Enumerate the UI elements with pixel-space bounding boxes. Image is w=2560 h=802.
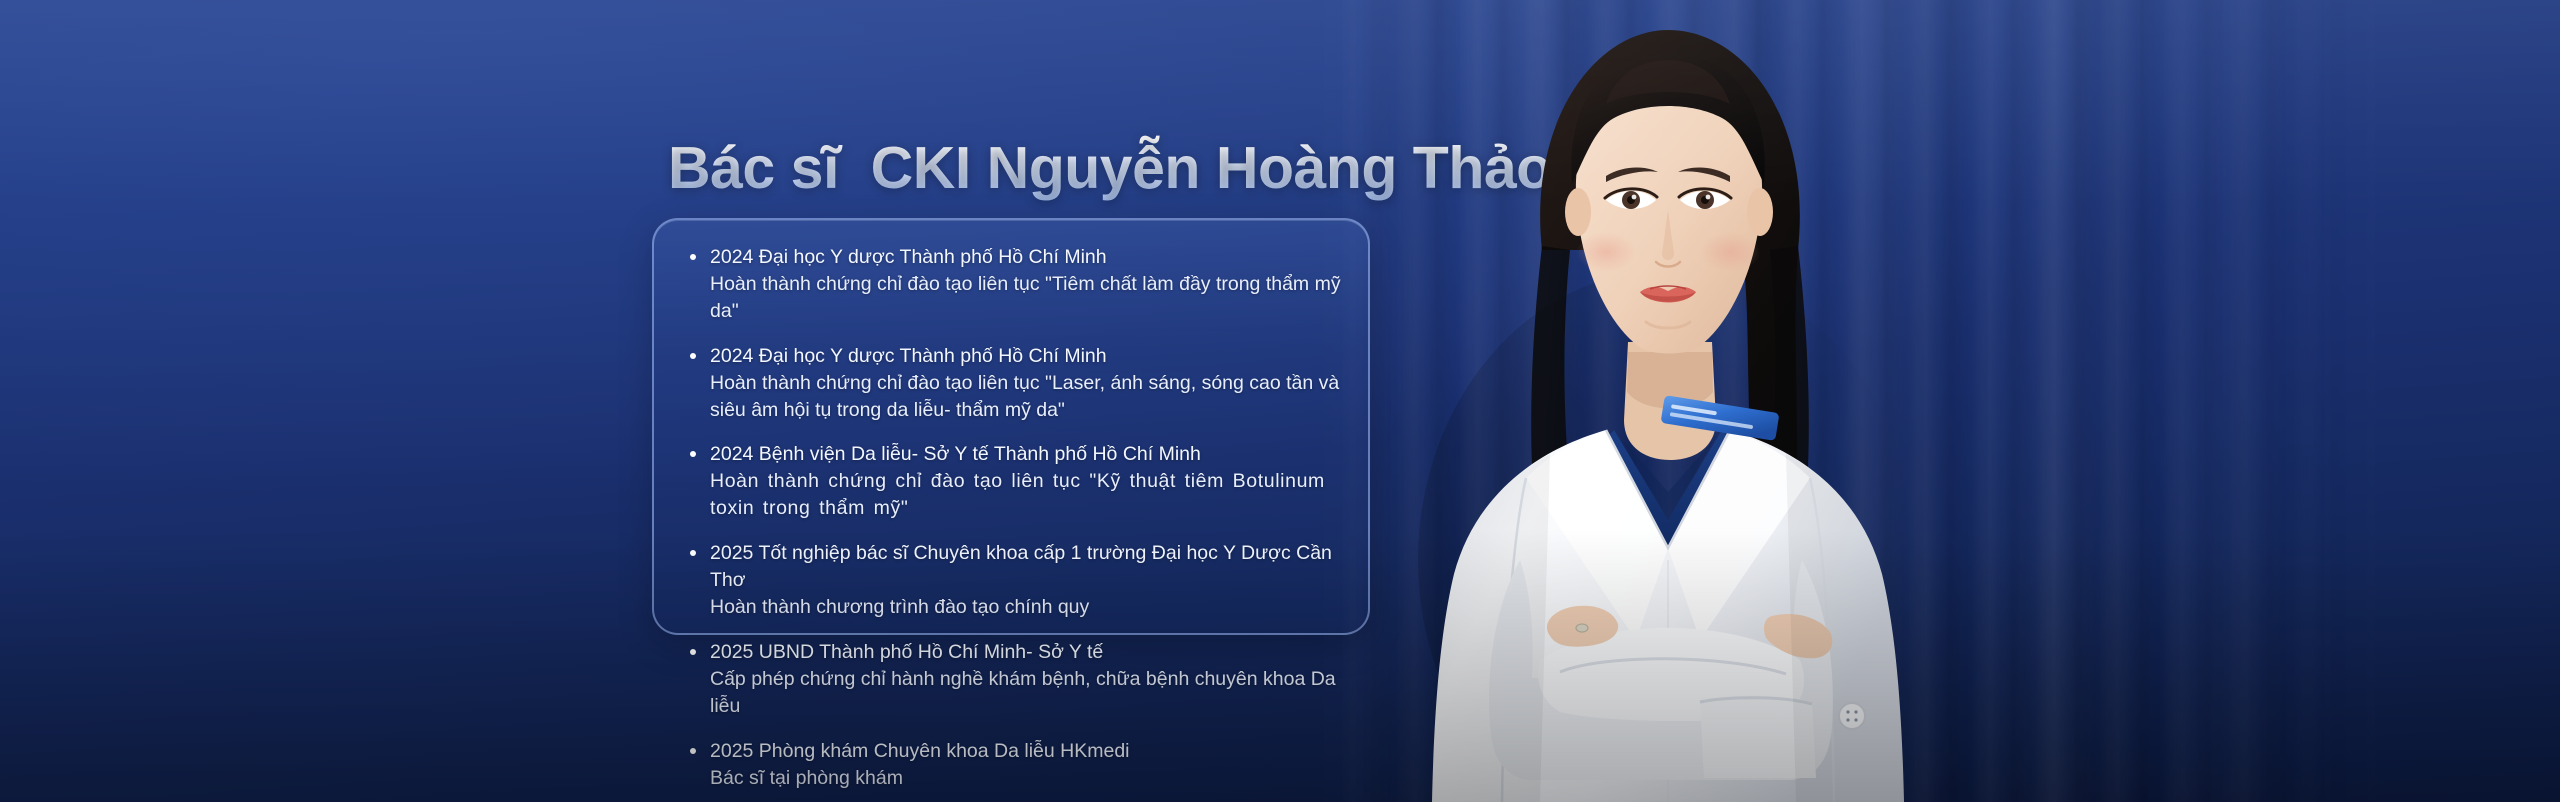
credential-headline: 2025 Tốt nghiệp bác sĩ Chuyên khoa cấp 1…	[710, 540, 1342, 594]
credential-detail: Hoàn thành chứng chỉ đào tạo liên tục "K…	[710, 468, 1342, 522]
credential-detail: Bác sĩ tại phòng khám	[710, 765, 1342, 792]
list-item: 2025 Tốt nghiệp bác sĩ Chuyên khoa cấp 1…	[690, 540, 1342, 621]
credential-detail: Hoàn thành chứng chỉ đào tạo liên tục "L…	[710, 370, 1342, 424]
credential-detail: Hoàn thành chứng chỉ đào tạo liên tục "T…	[710, 271, 1342, 325]
credential-headline: 2024 Bệnh viện Da liễu- Sở Y tế Thành ph…	[710, 441, 1342, 468]
credential-headline: 2024 Đại học Y dược Thành phố Hồ Chí Min…	[710, 343, 1342, 370]
bullet-icon	[690, 254, 696, 260]
list-item: 2024 Đại học Y dược Thành phố Hồ Chí Min…	[690, 244, 1342, 325]
credential-headline: 2024 Đại học Y dược Thành phố Hồ Chí Min…	[710, 244, 1342, 271]
credentials-list: 2024 Đại học Y dược Thành phố Hồ Chí Min…	[654, 220, 1368, 791]
credential-detail: Cấp phép chứng chỉ hành nghề khám bệnh, …	[710, 666, 1342, 720]
list-item: 2024 Bệnh viện Da liễu- Sở Y tế Thành ph…	[690, 441, 1342, 522]
doctor-portrait-photo	[1400, 0, 1960, 802]
list-item: 2025 Phòng khám Chuyên khoa Da liễu HKme…	[690, 738, 1342, 792]
credential-detail: Hoàn thành chương trình đào tạo chính qu…	[710, 594, 1342, 621]
credentials-card: 2024 Đại học Y dược Thành phố Hồ Chí Min…	[652, 218, 1370, 635]
bullet-icon	[690, 649, 696, 655]
doctor-profile-banner: Bác sĩ CKI Nguyễn Hoàng Thảo My 2024 Đại…	[0, 0, 2560, 802]
credential-headline: 2025 UBND Thành phố Hồ Chí Minh- Sở Y tế	[710, 639, 1342, 666]
bullet-icon	[690, 748, 696, 754]
bullet-icon	[690, 550, 696, 556]
bullet-icon	[690, 353, 696, 359]
list-item: 2024 Đại học Y dược Thành phố Hồ Chí Min…	[690, 343, 1342, 424]
bullet-icon	[690, 451, 696, 457]
list-item: 2025 UBND Thành phố Hồ Chí Minh- Sở Y tế…	[690, 639, 1342, 720]
credential-headline: 2025 Phòng khám Chuyên khoa Da liễu HKme…	[710, 738, 1342, 765]
